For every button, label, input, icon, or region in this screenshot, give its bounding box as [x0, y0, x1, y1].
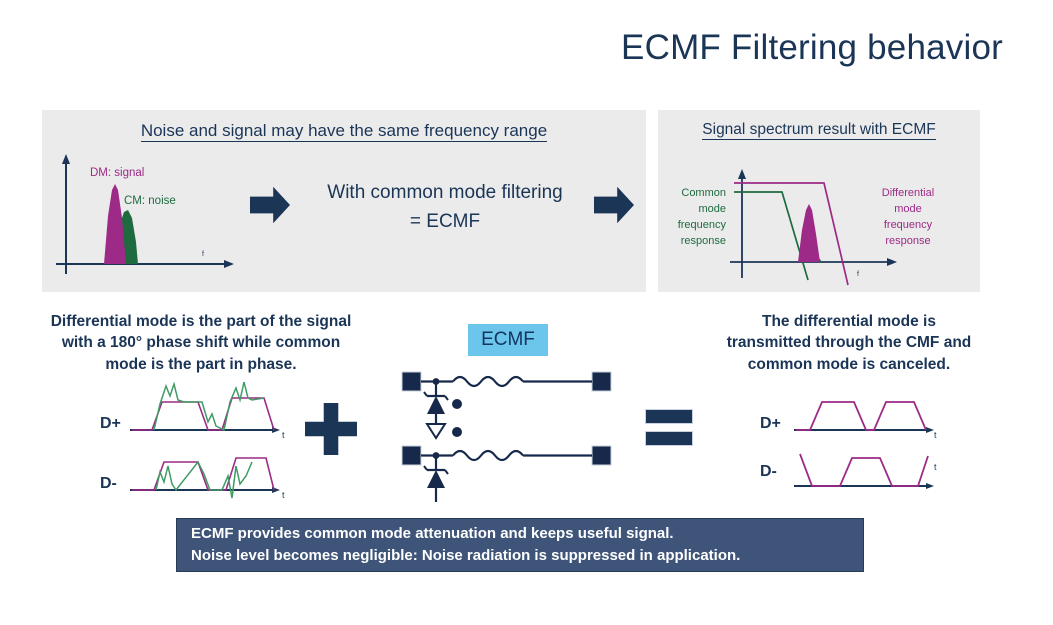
page-title: ECMF Filtering behavior — [0, 28, 1003, 68]
output-time-axis-label-2: t — [934, 462, 937, 472]
input-time-axis-label-1: t — [282, 430, 285, 440]
summary-line2: Noise level becomes negligible: Noise ra… — [191, 545, 863, 568]
right-chart-axis-label: f — [857, 271, 859, 278]
right-desc-line2: transmitted through the CMF and — [694, 332, 1004, 353]
noise-signal-panel-heading: Noise and signal may have the same frequ… — [42, 121, 646, 141]
dm-response-label-line1: Differential — [882, 187, 934, 199]
terminal-pad-in-top — [402, 372, 421, 391]
right-desc-line1: The differential mode is — [694, 311, 1004, 332]
input-waveform-label-dminus: D- — [100, 475, 117, 492]
left-desc-line2: with a 180° phase shift while common — [36, 332, 366, 353]
right-desc-line3: common mode is canceled. — [694, 354, 1004, 375]
cmf-result-description: The differential mode is transmitted thr… — [694, 311, 1004, 375]
left-desc-line3: mode is the part in phase. — [36, 354, 366, 375]
equals-bar-bottom — [645, 431, 693, 446]
common-mode-filtering-text: With common mode filtering = ECMF — [300, 178, 590, 237]
terminal-pad-out-bottom — [592, 446, 611, 465]
output-waveforms: D+ t D- t — [758, 388, 953, 498]
input-waveforms: D+ t D- t — [98, 380, 298, 505]
differential-mode-description: Differential mode is the part of the sig… — [36, 311, 366, 375]
equals-bar-top — [645, 409, 693, 424]
ecmf-circuit-diagram — [398, 364, 620, 504]
output-time-axis-label-1: t — [934, 430, 937, 440]
cm-noise-legend: CM: noise — [124, 195, 176, 207]
cm-response-label-line4: response — [681, 235, 726, 247]
ecmf-badge: ECMF — [468, 324, 548, 356]
ecmf-result-spectrum-chart: f Common mode frequency response Differe… — [672, 150, 972, 290]
output-waveform-label-dminus: D- — [760, 463, 777, 480]
equals-symbol — [645, 409, 693, 447]
diode-outline-top — [427, 424, 445, 438]
dm-response-label-line4: response — [885, 235, 930, 247]
spectrum-result-panel-heading: Signal spectrum result with ECMF — [658, 121, 980, 139]
left-desc-line1: Differential mode is the part of the sig… — [36, 311, 366, 332]
output-waveform-label-dplus: D+ — [760, 415, 781, 432]
coupling-dot-top — [452, 399, 462, 409]
zener-diode-top — [427, 396, 445, 414]
dm-response-label-line2: mode — [894, 203, 922, 215]
left-chart-axis-label: f — [202, 251, 204, 258]
summary-line1: ECMF provides common mode attenuation an… — [191, 523, 863, 546]
input-waveform-label-dplus: D+ — [100, 415, 121, 432]
terminal-pad-in-bottom — [402, 446, 421, 465]
cm-response-label-line3: frequency — [678, 219, 727, 231]
terminal-pad-out-top — [592, 372, 611, 391]
input-time-axis-label-2: t — [282, 490, 285, 500]
plus-symbol — [305, 403, 357, 455]
filtering-text-line2: = ECMF — [300, 207, 590, 236]
noise-signal-spectrum-chart: f DM: signal CM: noise — [52, 152, 242, 282]
slide-canvas: ECMF Filtering behavior Noise and signal… — [0, 0, 1053, 625]
coupling-dot-bottom — [452, 427, 462, 437]
filtering-text-line1: With common mode filtering — [300, 178, 590, 207]
summary-banner: ECMF provides common mode attenuation an… — [176, 518, 864, 572]
cm-response-label-line1: Common — [681, 187, 726, 199]
cm-response-label-line2: mode — [698, 203, 726, 215]
spectrum-result-heading-text: Signal spectrum result with ECMF — [702, 121, 935, 140]
dm-signal-legend: DM: signal — [90, 167, 144, 179]
noise-signal-heading-text: Noise and signal may have the same frequ… — [141, 121, 547, 142]
dm-response-label-line3: frequency — [884, 219, 933, 231]
zener-diode-bottom — [427, 470, 445, 488]
